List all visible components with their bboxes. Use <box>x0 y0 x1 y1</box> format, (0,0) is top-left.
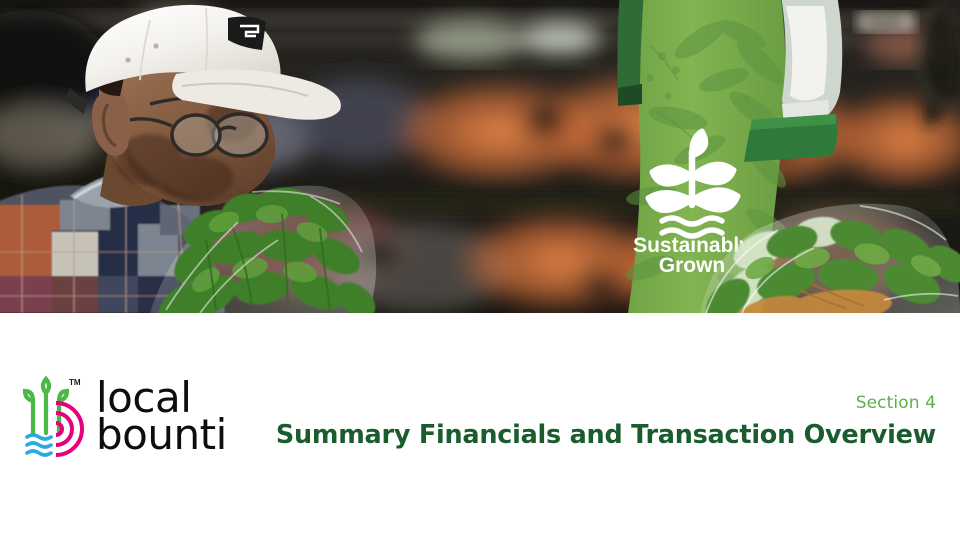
wordmark-line-bounti: bounti <box>96 417 227 454</box>
local-bounti-logo[interactable]: TM local bounti <box>22 373 227 459</box>
section-title-text: Summary Financials and Transaction Overv… <box>276 420 936 451</box>
section-number-label: Section 4 <box>276 393 936 414</box>
local-bounti-wordmark: local bounti <box>96 380 227 454</box>
title-band: TM local bounti Section 4 Summary Financ… <box>0 313 960 540</box>
trademark-symbol: TM <box>69 378 81 387</box>
hero-photo: Lasting Freshness <box>0 0 960 313</box>
logo-mark-icon: TM <box>22 373 86 459</box>
local-bounti-logo-mark: TM <box>22 373 86 459</box>
section-title-block: Section 4 Summary Financials and Transac… <box>276 393 936 451</box>
hero-photo-illustration: Lasting Freshness <box>0 0 960 313</box>
